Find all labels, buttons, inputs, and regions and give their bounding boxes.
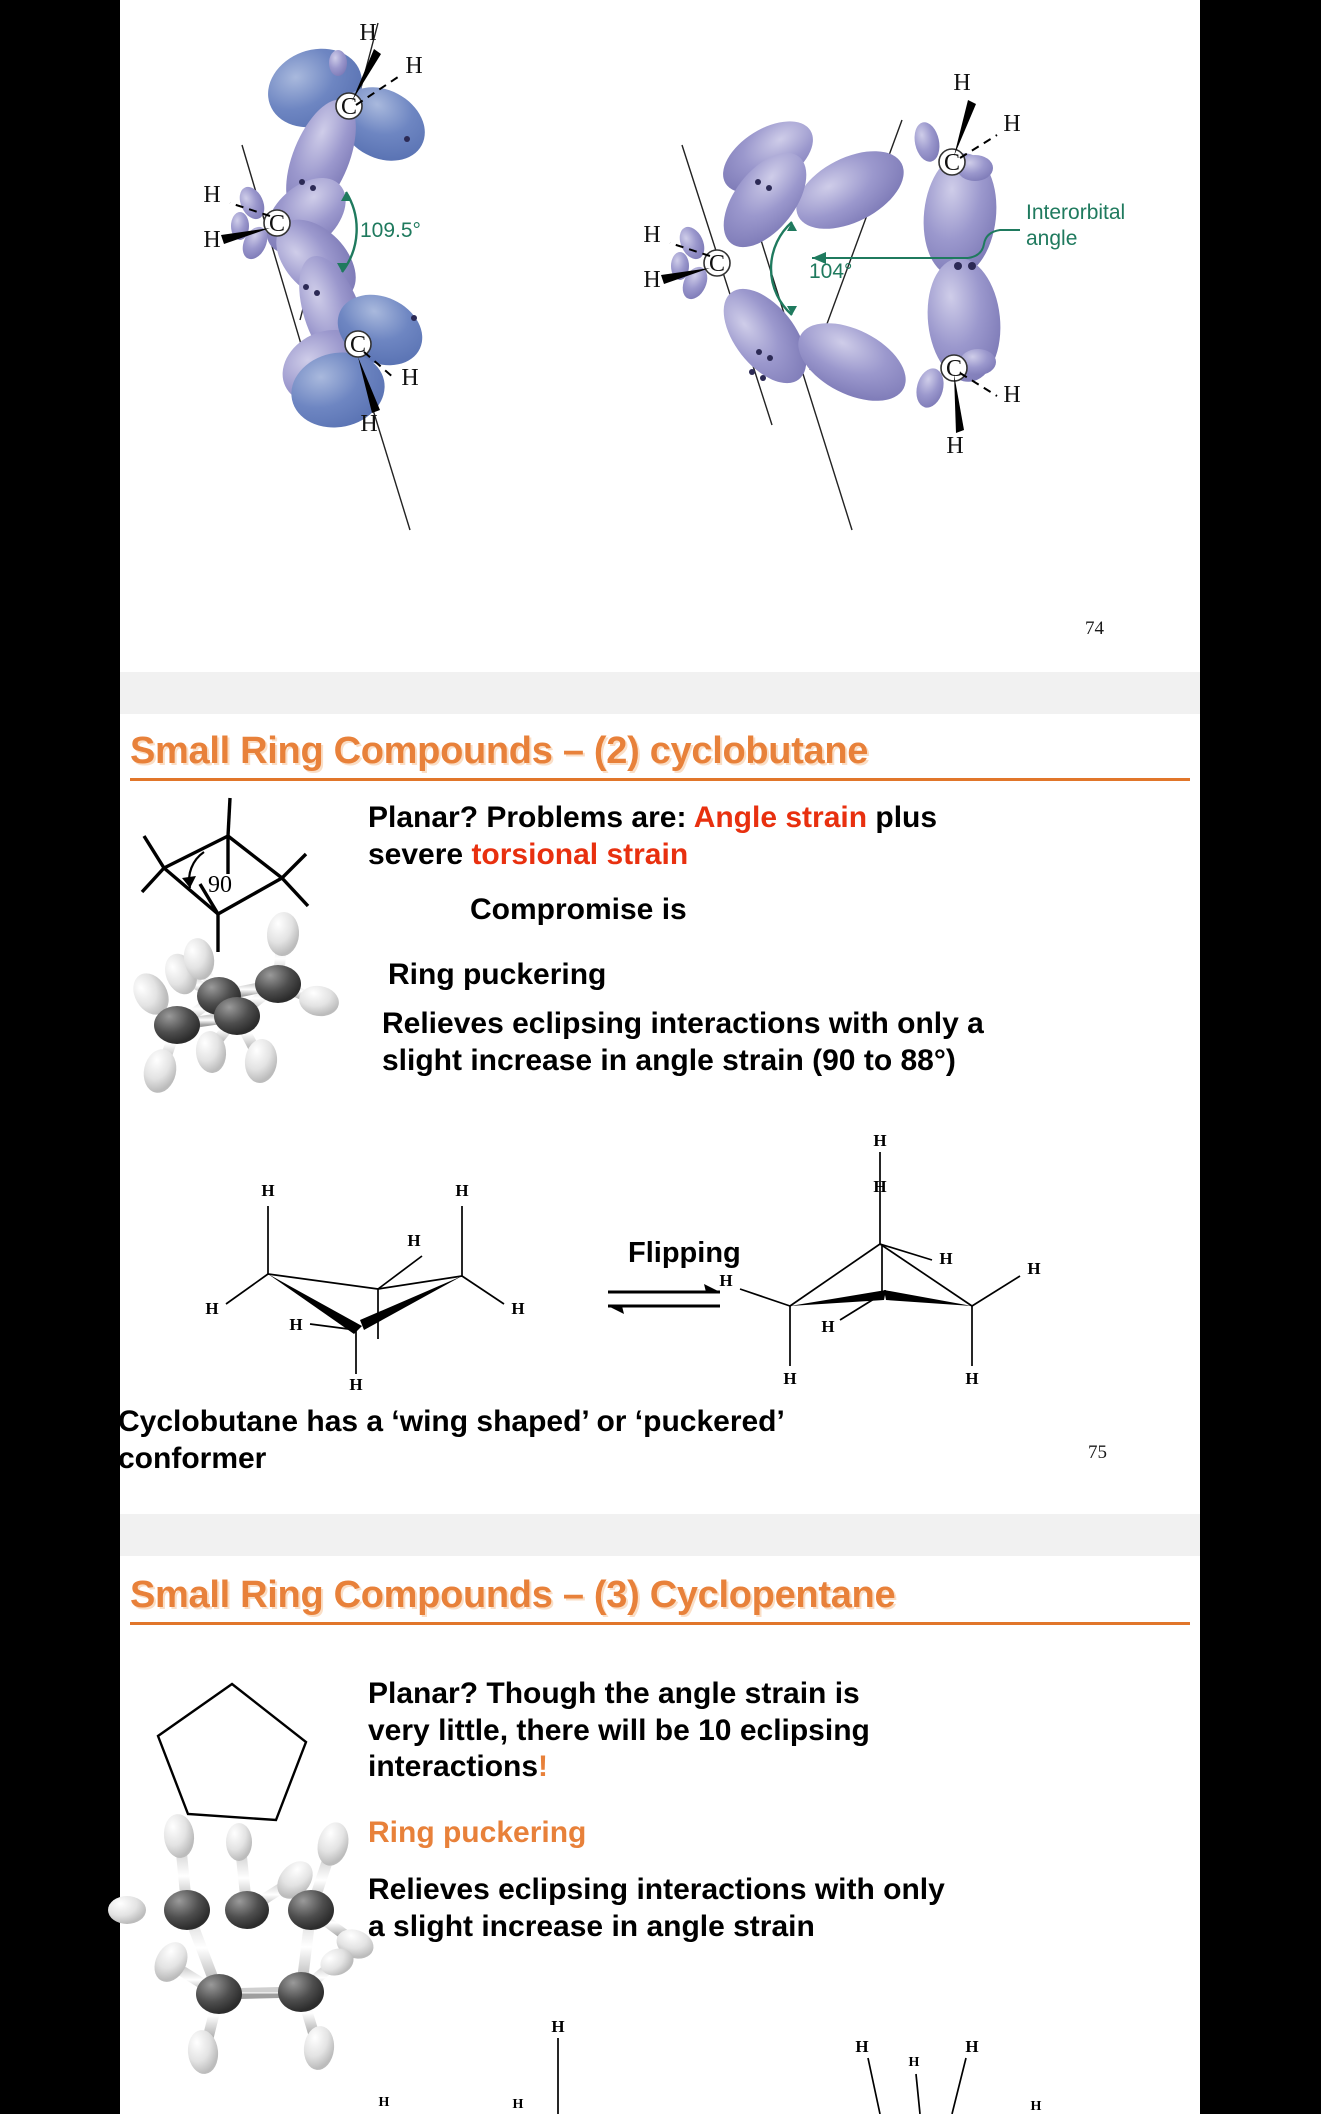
title-underline: [130, 778, 1190, 781]
svg-text:C: C: [350, 332, 366, 358]
equilibrium-arrows: [608, 1292, 720, 1306]
svg-text:H: H: [873, 1131, 886, 1150]
page-title-cyclopentane: Small Ring Compounds – (3) Cyclopentane: [130, 1574, 1190, 1617]
svg-text:H: H: [965, 1369, 978, 1388]
svg-text:H: H: [551, 2017, 564, 2036]
right-orbital-model: C C C H H H H H H: [643, 70, 1125, 530]
flip-structure-right: H H H H H H H H: [719, 1131, 1040, 1388]
svg-text:C: C: [709, 251, 725, 277]
svg-text:C: C: [341, 94, 357, 120]
slide2-title-block: Small Ring Compounds – (2) cyclobutane: [130, 730, 1190, 781]
interorbital-angle-callout-line1: Interorbital: [1026, 201, 1125, 224]
svg-text:H: H: [855, 2037, 868, 2056]
svg-text:C: C: [944, 150, 960, 176]
svg-text:H: H: [405, 53, 422, 79]
flipping-label: Flipping: [628, 1237, 741, 1269]
document-page: C C C H H H H H H: [120, 0, 1200, 2114]
svg-text:H: H: [1003, 111, 1020, 137]
relieves-eclipsing-text: Relieves eclipsing interactions with onl…: [382, 1006, 1022, 1079]
svg-text:H: H: [261, 1181, 274, 1200]
planar-problems-severe: severe: [368, 838, 471, 871]
slide3-title-block: Small Ring Compounds – (3) Cyclopentane: [130, 1574, 1190, 1625]
svg-text:C: C: [946, 356, 962, 382]
slide2-flipping-row: H H H H H H H Flipping: [120, 1144, 1200, 1394]
cyclobutane-flipping-diagram: H H H H H H H Flipping: [140, 1134, 1180, 1384]
svg-text:H: H: [203, 182, 220, 208]
title-underline-2: [130, 1622, 1190, 1625]
slide-orbital-overlap: C C C H H H H H H: [120, 0, 1200, 672]
slide2-footer: Cyclobutane has a ‘wing shaped’ or ‘puck…: [120, 1394, 1200, 1514]
planar-problems-mid: plus: [867, 801, 937, 834]
torsional-strain-highlight: torsional strain: [471, 838, 688, 871]
svg-text:H: H: [511, 1299, 524, 1318]
ring-puckering-heading: Ring puckering: [388, 957, 606, 994]
svg-text:H: H: [821, 1317, 834, 1336]
svg-text:H: H: [289, 1315, 302, 1334]
svg-text:H: H: [909, 2055, 920, 2070]
planar-cyclopentane-text: Planar? Though the angle strain is very …: [368, 1676, 928, 1786]
svg-text:H: H: [379, 2095, 390, 2110]
orbital-overlap-figure: C C C H H H H H H: [120, 0, 1200, 620]
angle-label-right: 104°: [809, 260, 852, 283]
svg-text:H: H: [965, 2037, 978, 2056]
svg-text:H: H: [360, 411, 377, 437]
svg-text:H: H: [643, 267, 660, 293]
ring-puckering-heading-2: Ring puckering: [368, 1816, 586, 1850]
cyclobutane-ball-stick-model: [115, 904, 365, 1119]
interorbital-angle-callout-line2: angle: [1026, 227, 1077, 250]
svg-text:H: H: [1027, 1259, 1040, 1278]
svg-text:H: H: [205, 1299, 218, 1318]
planar-problems-text: Planar? Problems are: Angle strain plus …: [368, 800, 988, 873]
page-title-cyclobutane: Small Ring Compounds – (2) cyclobutane: [130, 730, 1190, 773]
compromise-text: Compromise is: [470, 892, 687, 929]
slide-cyclopentane: Small Ring Compounds – (3) Cyclopentane …: [120, 1556, 1200, 2114]
angle-strain-highlight: Angle strain: [694, 801, 867, 834]
flip-structure-left: H H H H H H H: [205, 1181, 524, 1394]
relieves-eclipsing-text-2: Relieves eclipsing interactions with onl…: [368, 1872, 968, 1945]
svg-text:H: H: [1031, 2099, 1042, 2114]
svg-text:H: H: [359, 20, 376, 46]
slide-separator-2: [120, 1514, 1200, 1556]
planar-cyclopentane-pre: Planar? Though the angle strain is very …: [368, 1677, 870, 1783]
svg-text:H: H: [349, 1375, 362, 1394]
svg-text:H: H: [1003, 382, 1020, 408]
svg-text:H: H: [401, 365, 418, 391]
svg-text:H: H: [939, 1249, 952, 1268]
svg-text:H: H: [203, 227, 220, 253]
conformer-caption: Cyclobutane has a ‘wing shaped’ or ‘puck…: [118, 1404, 918, 1477]
svg-text:H: H: [783, 1369, 796, 1388]
page-number-74: 74: [1085, 618, 1104, 640]
svg-text:H: H: [643, 222, 660, 248]
svg-text:H: H: [946, 433, 963, 459]
svg-text:H: H: [953, 70, 970, 96]
planar-cyclopentane-exclaim: !: [538, 1750, 548, 1783]
svg-text:H: H: [513, 2097, 524, 2112]
svg-text:C: C: [269, 211, 285, 237]
left-orbital-model: C C C H H H H H H: [203, 20, 437, 530]
slide-separator-1: [120, 672, 1200, 714]
angle-90-label: 90: [208, 872, 232, 898]
svg-text:H: H: [719, 1271, 732, 1290]
page-number-75: 75: [1088, 1442, 1107, 1464]
svg-text:H: H: [407, 1231, 420, 1250]
planar-problems-pre: Planar? Problems are:: [368, 801, 694, 834]
slide-cyclobutane: Small Ring Compounds – (2) cyclobutane: [120, 714, 1200, 1144]
svg-text:H: H: [873, 1177, 886, 1196]
svg-text:H: H: [455, 1181, 468, 1200]
angle-label-left: 109.5°: [360, 219, 421, 242]
cyclopentane-conformer-partial-diagram: H H H H H H H: [300, 2016, 1180, 2114]
